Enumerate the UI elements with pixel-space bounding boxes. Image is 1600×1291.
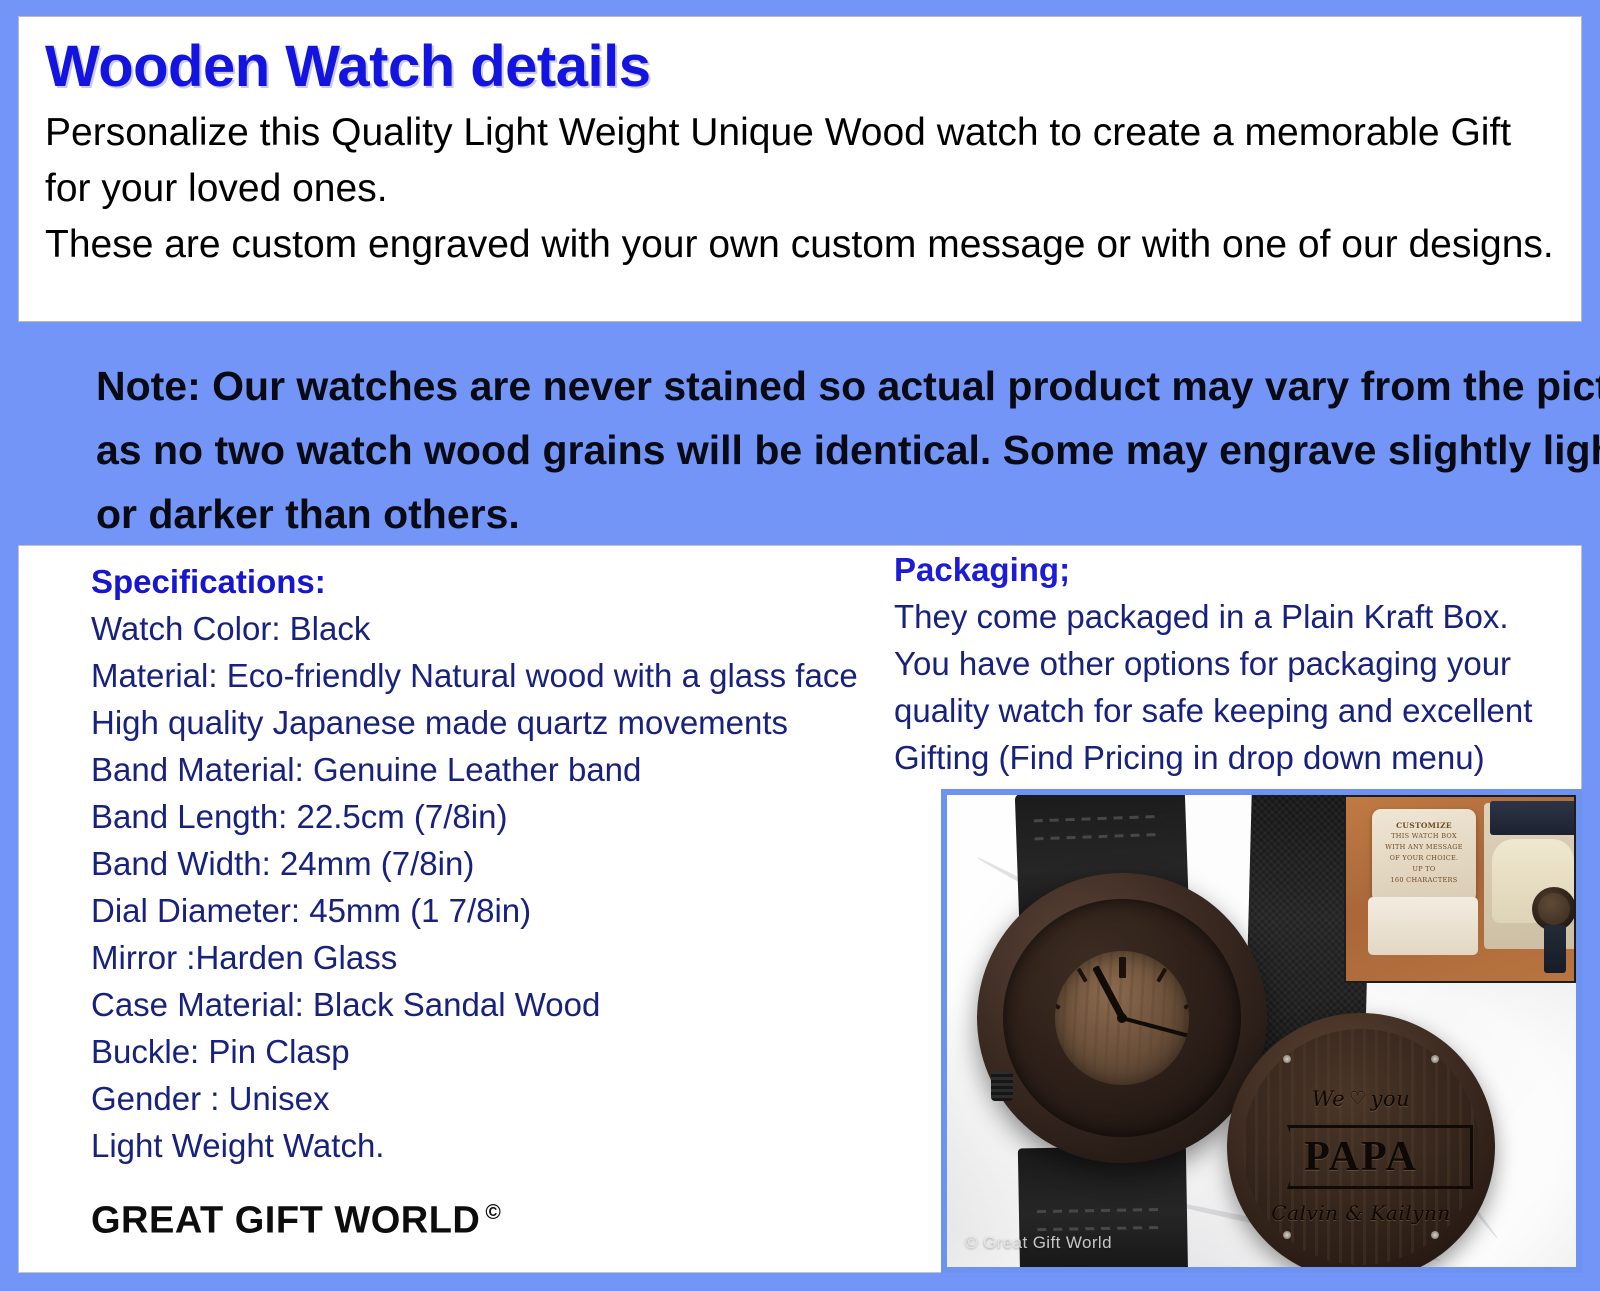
watch-in-box-strap	[1544, 925, 1566, 973]
spec-buckle: Buckle: Pin Clasp	[91, 1028, 891, 1075]
dial-marker	[1188, 1041, 1189, 1048]
watch-strap-bottom	[1018, 1146, 1188, 1273]
dial-marker	[1156, 968, 1167, 983]
strap-stitching	[1037, 1208, 1163, 1213]
case-screw	[1283, 1231, 1291, 1239]
header-card: Wooden Watch details Personalize this Qu…	[18, 16, 1582, 322]
note-band: Note: Our watches are never stained so a…	[0, 322, 1600, 545]
spec-band-width: Band Width: 24mm (7/8in)	[91, 840, 891, 887]
spec-weight: Light Weight Watch.	[91, 1122, 891, 1169]
intro-paragraph: Personalize this Quality Light Weight Un…	[45, 105, 1555, 273]
dial-marker	[1183, 999, 1189, 1010]
watch-dial	[1055, 951, 1189, 1085]
watch-in-box-dial	[1538, 893, 1570, 925]
spec-case-material: Case Material: Black Sandal Wood	[91, 981, 891, 1028]
box-text-line: 160 CHARACTERS	[1372, 875, 1476, 886]
dial-marker	[1055, 999, 1061, 1010]
packaging-section: Packaging; They come packaged in a Plain…	[894, 546, 1584, 781]
box-text-line: WITH ANY MESSAGE	[1372, 842, 1476, 853]
page-title: Wooden Watch details	[45, 35, 1555, 99]
copyright-icon: ©	[485, 1201, 501, 1224]
dial-marker	[1183, 1078, 1189, 1085]
watch-back-plate: We♡you PAPA Calvin & Kailynn	[1243, 1029, 1479, 1265]
box-text-line: CUSTOMIZE	[1372, 820, 1476, 831]
product-photo: We♡you PAPA Calvin & Kailynn CUSTOMIZE T…	[941, 789, 1582, 1273]
packaging-line: They come packaged in a Plain Kraft Box.	[894, 593, 1584, 640]
engraving-ribbon-text: PAPA	[1243, 1133, 1479, 1181]
dial-marker	[1119, 957, 1126, 978]
specifications-heading: Specifications:	[91, 558, 891, 605]
intro-line: These are custom engraved with your own …	[45, 217, 1555, 273]
case-screw	[1431, 1055, 1439, 1063]
brand-name: GREAT GIFT WORLD	[91, 1200, 480, 1242]
photo-background-marble: We♡you PAPA Calvin & Kailynn CUSTOMIZE T…	[947, 795, 1576, 1267]
watch-minute-hand	[1121, 1016, 1189, 1040]
note-line: Note: Our watches are never stained so a…	[96, 354, 1574, 418]
note-line: as no two watch wood grains will be iden…	[96, 418, 1574, 482]
packaging-line: You have other options for packaging you…	[894, 640, 1584, 687]
engraving-you: you	[1371, 1087, 1411, 1111]
note-text: Note: Our watches are never stained so a…	[96, 354, 1574, 546]
watch-box-base	[1368, 897, 1478, 955]
watch-bezel	[1003, 899, 1241, 1137]
details-card: Specifications: Watch Color: Black Mater…	[18, 545, 1582, 1273]
strap-stitching	[1034, 833, 1162, 840]
box-text-line: THIS WATCH BOX	[1372, 831, 1476, 842]
listing-detail-image: Wooden Watch details Personalize this Qu…	[0, 0, 1600, 1291]
intro-line: Personalize this Quality Light Weight Un…	[45, 105, 1555, 161]
watch-crown	[991, 1071, 1013, 1101]
photo-watermark: © Great Gift World	[965, 1233, 1112, 1253]
heart-icon: ♡	[1349, 1088, 1367, 1110]
box-text-line: UP TO	[1372, 864, 1476, 875]
packaging-line: Gifting (Find Pricing in drop down menu)	[894, 734, 1584, 781]
brand-logo: GREAT GIFT WORLD©	[91, 1191, 891, 1243]
watch-box-cushion	[1492, 839, 1574, 923]
box-text-line: OF YOUR CHOICE.	[1372, 853, 1476, 864]
intro-line: for your loved ones.	[45, 161, 1555, 217]
dial-marker	[1055, 1078, 1061, 1085]
specifications-section: Specifications: Watch Color: Black Mater…	[91, 558, 891, 1243]
spec-gender: Gender : Unisex	[91, 1075, 891, 1122]
watch-box-lid: CUSTOMIZE THIS WATCH BOX WITH ANY MESSAG…	[1372, 809, 1476, 903]
spec-material: Material: Eco-friendly Natural wood with…	[91, 652, 891, 699]
dial-marker	[1077, 968, 1088, 983]
watch-box-inset-photo: CUSTOMIZE THIS WATCH BOX WITH ANY MESSAG…	[1344, 795, 1576, 983]
spec-band-material: Band Material: Genuine Leather band	[91, 746, 891, 793]
wooden-watch-engraved-back: We♡you PAPA Calvin & Kailynn	[1227, 1013, 1495, 1273]
wooden-watch-front	[977, 873, 1267, 1163]
spec-movement: High quality Japanese made quartz moveme…	[91, 699, 891, 746]
spec-mirror: Mirror :Harden Glass	[91, 934, 891, 981]
case-screw	[1431, 1231, 1439, 1239]
strap-stitching	[1034, 815, 1162, 822]
spec-watch-color: Watch Color: Black	[91, 605, 891, 652]
watch-box-engraving-text: CUSTOMIZE THIS WATCH BOX WITH ANY MESSAG…	[1372, 820, 1476, 886]
watch-hand-pivot	[1117, 1013, 1127, 1023]
watch-box-open	[1484, 803, 1576, 949]
packaging-line: quality watch for safe keeping and excel…	[894, 687, 1584, 734]
engraving-names: Calvin & Kailynn	[1243, 1201, 1479, 1225]
watch-box-open-lid	[1490, 801, 1576, 835]
engraving-we: We	[1312, 1087, 1345, 1111]
strap-stitching	[1037, 1226, 1163, 1231]
packaging-heading: Packaging;	[894, 546, 1584, 593]
spec-dial-diameter: Dial Diameter: 45mm (1 7/8in)	[91, 887, 891, 934]
spec-band-length: Band Length: 22.5cm (7/8in)	[91, 793, 891, 840]
note-line: or darker than others.	[96, 482, 1574, 546]
dial-marker	[1055, 1041, 1056, 1048]
engraving-line-top: We♡you	[1243, 1087, 1479, 1111]
case-screw	[1283, 1055, 1291, 1063]
